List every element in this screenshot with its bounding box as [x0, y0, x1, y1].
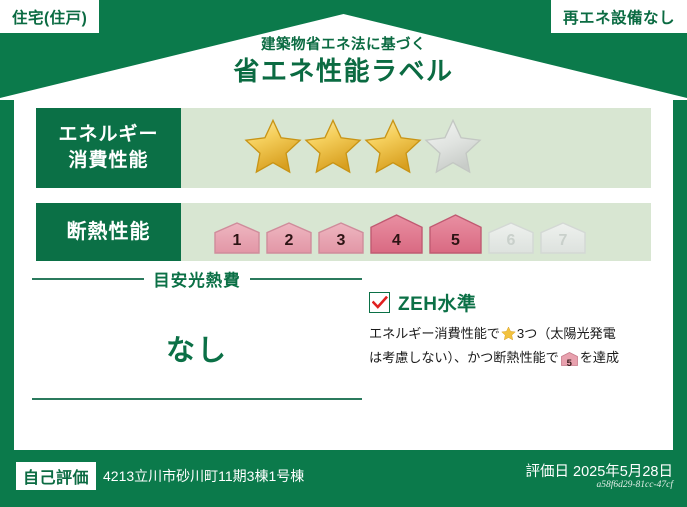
zeh-title: ZEH水準 — [398, 289, 477, 316]
energy-performance-row: エネルギー 消費性能 — [36, 108, 651, 188]
zeh-checkbox[interactable] — [369, 292, 390, 313]
utility-cost-heading-text: 目安光熱費 — [153, 267, 241, 291]
energy-performance-label: エネルギー 消費性能 — [36, 108, 181, 188]
evaluation-id: a58f6d29-81cc-47cf — [596, 480, 673, 490]
check-icon — [372, 296, 388, 309]
insulation-level-6: 6 — [487, 209, 535, 255]
zeh-desc-part-1: エネルギー消費性能で — [369, 326, 500, 341]
lower-section: 目安光熱費 なし ZEH水準 エネルギー消費性能で3つ（太陽光発電は考慮しない） — [14, 267, 673, 450]
label-footer: 自己評価 4213立川市砂川町11期3棟1号棟 評価日 2025年5月28日 a… — [0, 450, 687, 507]
badge-renewable-energy: 再エネ設備なし — [551, 0, 687, 33]
insulation-level-7: 7 — [539, 209, 587, 255]
insulation-level-1: 1 — [213, 209, 261, 255]
self-assessment-badge: 自己評価 — [16, 462, 96, 490]
label-main-title: 省エネ性能ラベル — [0, 55, 687, 89]
badge-building-type: 住宅(住戸) — [0, 0, 99, 33]
insulation-level-2: 2 — [265, 209, 313, 255]
star-filled-icon — [244, 117, 302, 180]
inline-house-number: 5 — [561, 356, 578, 371]
zeh-block: ZEH水準 エネルギー消費性能で3つ（太陽光発電は考慮しない）、かつ断熱性能で5… — [369, 289, 659, 373]
utility-cost-heading: 目安光熱費 — [32, 267, 362, 291]
zeh-desc-part-2: は考慮しない）、かつ断熱性能で — [369, 350, 559, 365]
star-filled-icon — [304, 117, 362, 180]
zeh-heading: ZEH水準 — [369, 289, 659, 316]
zeh-desc-part-3: を達成 — [580, 350, 619, 365]
utility-cost-block: 目安光熱費 なし — [32, 267, 362, 369]
insulation-performance-label: 断熱性能 — [36, 203, 181, 261]
property-address: 4213立川市砂川町11期3棟1号棟 — [103, 466, 304, 486]
insulation-level-3: 3 — [317, 209, 365, 255]
zeh-desc-stars: 3つ（太陽光発電 — [517, 326, 616, 341]
heading-rule-left — [32, 278, 144, 280]
star-filled-icon — [364, 117, 422, 180]
label-title: 建築物省エネ法に基づく 省エネ性能ラベル — [0, 36, 687, 89]
inline-house-icon: 5 — [561, 351, 578, 372]
heading-rule-right — [250, 278, 362, 280]
energy-label-line-1: エネルギー — [58, 122, 158, 148]
label-subtitle: 建築物省エネ法に基づく — [0, 36, 687, 54]
zeh-description: エネルギー消費性能で3つ（太陽光発電は考慮しない）、かつ断熱性能で5を達成 — [369, 323, 659, 373]
utility-cost-bottom-rule — [32, 398, 362, 400]
star-empty-icon — [424, 117, 482, 180]
energy-label-line-2: 消費性能 — [68, 148, 148, 174]
insulation-level-4: 4 — [369, 209, 424, 255]
energy-stars-area — [181, 108, 651, 188]
energy-label-card: 建築物省エネ法に基づく 省エネ性能ラベル 住宅(住戸) 再エネ設備なし エネルギ… — [0, 0, 687, 507]
insulation-level-5: 5 — [428, 209, 483, 255]
inline-star-icon — [501, 329, 516, 344]
utility-cost-value: なし — [32, 327, 362, 369]
evaluation-date: 評価日 2025年5月28日 — [526, 460, 673, 481]
star-rating — [244, 117, 482, 180]
insulation-level-scale: 1234567 — [181, 203, 651, 261]
insulation-performance-row: 断熱性能 1234567 — [36, 203, 651, 261]
label-body: エネルギー 消費性能 断熱性能 1234567 目安光熱費 なし — [14, 95, 673, 450]
